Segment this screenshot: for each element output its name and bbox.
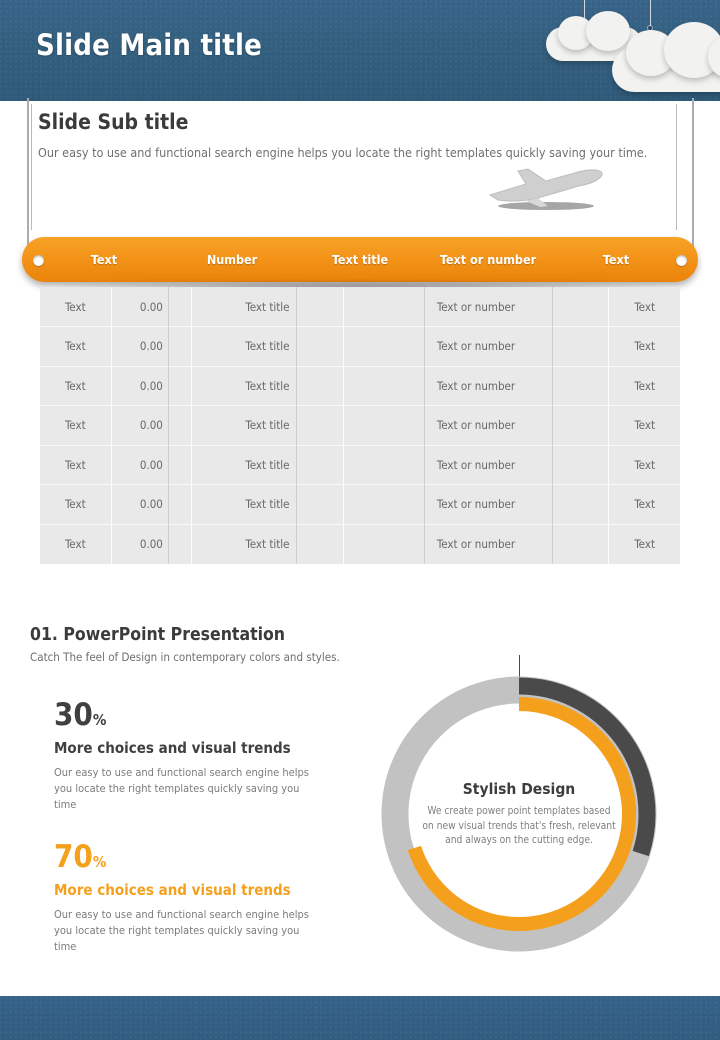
- table-cell-r3-c2: Text title: [192, 406, 344, 446]
- table-cell-r0-c3: Text or number: [343, 287, 609, 327]
- table-row: Text0.00Text titleText or numberText: [40, 287, 680, 327]
- table-hang-string-right: [692, 98, 694, 248]
- table-row: Text0.00Text titleText or numberText: [40, 445, 680, 485]
- column-separator-4: [552, 287, 553, 564]
- table-row: Text0.00Text titleText or numberText: [40, 366, 680, 406]
- table-row: Text0.00Text titleText or numberText: [40, 485, 680, 525]
- stat-body-70: Our easy to use and functional search en…: [54, 907, 309, 955]
- slide-header: Slide Main title: [0, 0, 720, 101]
- table-header-row: Text Number Text title Text or number Te…: [40, 237, 680, 282]
- stat-block-70: 70% More choices and visual trends Our e…: [54, 840, 354, 955]
- table-cell-r1-c2: Text title: [192, 327, 344, 367]
- table-row: Text0.00Text titleText or numberText: [40, 406, 680, 446]
- table-cell-r0-c0: Text: [40, 287, 111, 327]
- subtitle-title: Slide Sub title: [38, 110, 188, 134]
- stat-body-30: Our easy to use and functional search en…: [54, 765, 309, 813]
- table-cell-r4-c4: Text: [609, 445, 680, 485]
- page-title: Slide Main title: [36, 28, 262, 62]
- section-title: 01. PowerPoint Presentation: [30, 625, 285, 645]
- table-cell-r0-c1: 0.00: [111, 287, 192, 327]
- stat-percent-70: 70%: [54, 840, 354, 879]
- column-separator-3: [424, 287, 425, 564]
- table-body: Text0.00Text titleText or numberTextText…: [40, 287, 680, 564]
- cloud-icon-lobe: [586, 11, 630, 51]
- table-cell-r3-c3: Text or number: [343, 406, 609, 446]
- table-grid: Text0.00Text titleText or numberTextText…: [40, 287, 680, 564]
- table-cell-r3-c4: Text: [609, 406, 680, 446]
- table-header-bar: Text Number Text title Text or number Te…: [22, 237, 698, 282]
- table-pin-right: [676, 255, 687, 266]
- table-cell-r5-c2: Text title: [192, 485, 344, 525]
- table-cell-r1-c1: 0.00: [111, 327, 192, 367]
- table-cell-r1-c4: Text: [609, 327, 680, 367]
- table-cell-r0-c4: Text: [609, 287, 680, 327]
- stat-percent-30: 30%: [54, 698, 354, 737]
- table-cell-r6-c0: Text: [40, 524, 111, 564]
- section-subtitle: Catch The feel of Design in contemporary…: [30, 650, 340, 664]
- table-cell-r5-c3: Text or number: [343, 485, 609, 525]
- table-cell-r4-c2: Text title: [192, 445, 344, 485]
- table-row: Text0.00Text titleText or numberText: [40, 327, 680, 367]
- donut-chart: Stylish Design We create power point tem…: [366, 661, 672, 967]
- table-cell-r2-c0: Text: [40, 366, 111, 406]
- table-cell-r1-c0: Text: [40, 327, 111, 367]
- table-row: Text0.00Text titleText or numberText: [40, 524, 680, 564]
- subtitle-block: Slide Sub title Our easy to use and func…: [0, 101, 720, 231]
- airplane-icon: [480, 165, 610, 210]
- table-cell-r5-c1: 0.00: [111, 485, 192, 525]
- column-header-2[interactable]: Text title: [296, 237, 424, 282]
- column-header-1[interactable]: Number: [168, 237, 296, 282]
- table-cell-r0-c2: Text title: [192, 287, 344, 327]
- donut-title: Stylish Design: [421, 780, 617, 798]
- table-cell-r4-c0: Text: [40, 445, 111, 485]
- table-cell-r6-c2: Text title: [192, 524, 344, 564]
- table-cell-r2-c3: Text or number: [343, 366, 609, 406]
- table-cell-r2-c2: Text title: [192, 366, 344, 406]
- table-cell-r2-c1: 0.00: [111, 366, 192, 406]
- table-cell-r3-c1: 0.00: [111, 406, 192, 446]
- cloud-decoration: [530, 0, 720, 101]
- table-cell-r1-c3: Text or number: [343, 327, 609, 367]
- subtitle-divider-right: [676, 104, 677, 230]
- table-cell-r6-c1: 0.00: [111, 524, 192, 564]
- table-cell-r5-c0: Text: [40, 485, 111, 525]
- stat-percent-value: 70: [54, 839, 93, 875]
- table-cell-r2-c4: Text: [609, 366, 680, 406]
- column-header-3[interactable]: Text or number: [424, 237, 552, 282]
- table-pin-left: [33, 255, 44, 266]
- table-cell-r4-c1: 0.00: [111, 445, 192, 485]
- column-header-4[interactable]: Text: [552, 237, 680, 282]
- column-header-0[interactable]: Text: [40, 237, 168, 282]
- table-hang-string-left: [27, 98, 29, 248]
- percent-symbol: %: [93, 711, 107, 729]
- stat-block-30: 30% More choices and visual trends Our e…: [54, 698, 354, 813]
- slide-canvas: Slide Main title Slide Sub title Our eas…: [0, 0, 720, 1040]
- table-cell-r6-c4: Text: [609, 524, 680, 564]
- column-separator-2: [296, 287, 297, 564]
- slide-footer: [0, 996, 720, 1040]
- stat-percent-value: 30: [54, 697, 93, 733]
- table-cell-r5-c4: Text: [609, 485, 680, 525]
- table-cell-r4-c3: Text or number: [343, 445, 609, 485]
- table-cell-r3-c0: Text: [40, 406, 111, 446]
- donut-subtitle: We create power point templates based on…: [421, 805, 617, 849]
- subtitle-text: Our easy to use and functional search en…: [38, 141, 673, 164]
- subtitle-divider-left: [31, 104, 32, 230]
- percent-symbol: %: [93, 853, 107, 871]
- column-separator-1: [168, 287, 169, 564]
- donut-center-label: Stylish Design We create power point tem…: [421, 780, 617, 849]
- cloud-string-right: [650, 0, 651, 28]
- table-cell-r6-c3: Text or number: [343, 524, 609, 564]
- stat-heading-70: More choices and visual trends: [54, 881, 354, 899]
- stat-heading-30: More choices and visual trends: [54, 739, 354, 757]
